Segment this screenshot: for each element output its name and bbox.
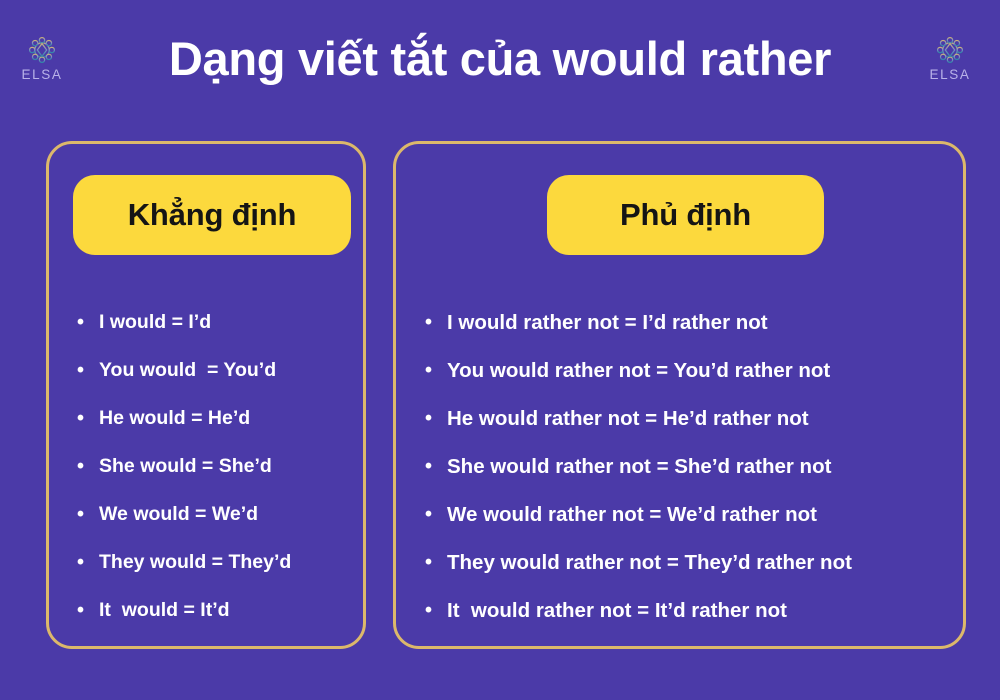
brand-logo-right: ELSA [919, 33, 981, 95]
list-item: She would = She’d [75, 443, 365, 491]
list-negative: I would rather not = I’d rather not You … [423, 299, 963, 635]
list-item: You would rather not = You’d rather not [423, 347, 963, 395]
page-header: ELSA Dạng viết tắt của would rather [0, 0, 1000, 128]
card-negative: Phủ định I would rather not = I’d rather… [393, 141, 966, 649]
brand-logo-right-label: ELSA [930, 68, 971, 82]
badge-affirmative: Khẳng định [73, 175, 351, 255]
page-title: Dạng viết tắt của would rather [0, 31, 1000, 86]
list-item: They would rather not = They’d rather no… [423, 539, 963, 587]
list-item: We would rather not = We’d rather not [423, 491, 963, 539]
list-item: He would rather not = He’d rather not [423, 395, 963, 443]
list-item: You would = You’d [75, 347, 365, 395]
list-item: He would = He’d [75, 395, 365, 443]
list-affirmative: I would = I’d You would = You’d He would… [75, 299, 365, 635]
list-item: It would = It’d [75, 587, 365, 635]
list-item: It would rather not = It’d rather not [423, 587, 963, 635]
elsa-lotus-logo-icon [933, 33, 967, 67]
badge-negative: Phủ định [547, 175, 824, 255]
card-affirmative: Khẳng định I would = I’d You would = You… [46, 141, 366, 649]
list-item: I would = I’d [75, 299, 365, 347]
list-item: They would = They’d [75, 539, 365, 587]
list-item: I would rather not = I’d rather not [423, 299, 963, 347]
list-item: She would rather not = She’d rather not [423, 443, 963, 491]
list-item: We would = We’d [75, 491, 365, 539]
